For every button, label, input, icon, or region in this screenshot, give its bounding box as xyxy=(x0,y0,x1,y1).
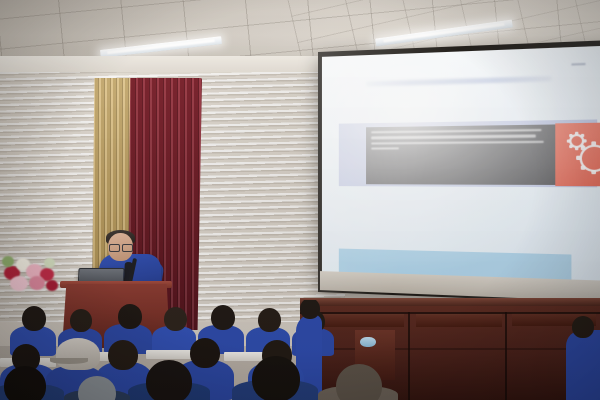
conference-room-photo xyxy=(0,0,600,400)
slide-textbox xyxy=(366,124,555,184)
slide-text-line xyxy=(371,140,543,144)
cap-brim xyxy=(50,358,88,364)
glasses-icon xyxy=(109,244,132,250)
gear-small-teeth xyxy=(567,132,587,151)
slide-accent-panel xyxy=(555,122,600,186)
slide-title-line xyxy=(366,76,552,87)
slide-text-line xyxy=(371,135,536,139)
slide-text-line xyxy=(371,147,398,149)
audience xyxy=(0,300,600,400)
slide-text-line xyxy=(371,129,541,134)
gear-small-icon xyxy=(569,134,584,148)
flower-arrangement xyxy=(2,252,62,296)
projection-screen-surface xyxy=(322,45,600,282)
projection-screen[interactable] xyxy=(318,39,600,304)
grey-cap xyxy=(56,338,100,370)
slide-corner-mark xyxy=(571,63,585,66)
